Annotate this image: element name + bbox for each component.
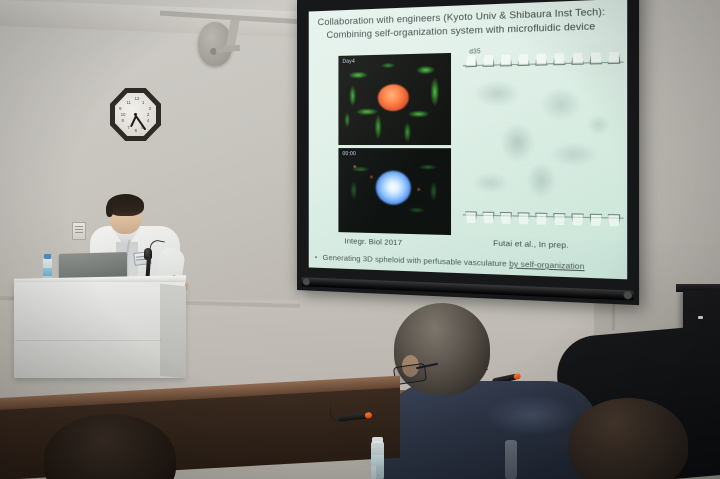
audience-shoulder-highlight (486, 395, 576, 435)
clock-num-6: 6 (135, 129, 137, 133)
clock-num-10: 10 (121, 113, 126, 117)
panel-c-tag: d35 (469, 49, 481, 56)
post (589, 214, 602, 226)
post (553, 53, 565, 65)
slide-title: Collaboration with engineers (Kyoto Univ… (318, 4, 625, 42)
slide-image-panel-c: d35 (463, 43, 624, 241)
projection-screen: Collaboration with engineers (Kyoto Univ… (297, 0, 639, 305)
audience-jacket-navy (376, 381, 600, 479)
clock-num-3: 3 (149, 107, 151, 111)
lectern-side-panel (160, 284, 186, 379)
slide-bullet: •Generating 3D spheloid with perfusable … (315, 253, 623, 273)
clock-center-pin (134, 113, 137, 116)
clock-num-9: 9 (119, 107, 121, 111)
post (483, 55, 495, 67)
post (535, 213, 547, 225)
caption-right: Futai et al., In prep. (493, 238, 569, 250)
caption-left: Integr. Biol 2017 (344, 236, 402, 247)
presenter-glasses (111, 210, 140, 217)
slide-image-panel-a: Day4 (338, 53, 451, 145)
post (500, 212, 512, 224)
lecture-hall-photo: 12 1 2 3 4 5 6 7 8 9 10 11 Collaboration… (0, 0, 720, 479)
panel-b-tag: 00:00 (342, 151, 356, 157)
post (483, 212, 495, 224)
clock-num-8: 8 (122, 119, 124, 123)
clock-numerals: 12 1 2 3 4 5 6 7 8 9 10 11 (115, 93, 156, 136)
post (465, 55, 477, 67)
audience-bottle-label (371, 455, 384, 466)
post (608, 52, 621, 64)
bullet-text-underlined: by self-organization (509, 259, 584, 271)
clock-num-7: 7 (127, 126, 129, 130)
bullet-marker: • (315, 253, 323, 262)
post (535, 54, 547, 66)
post (553, 213, 565, 225)
clock-num-1: 1 (142, 101, 144, 105)
clock-num-2: 2 (147, 113, 149, 117)
wall-clock: 12 1 2 3 4 5 6 7 8 9 10 11 (110, 88, 161, 141)
audience-water-bottle-2 (505, 440, 517, 479)
bullet-text-plain: Generating 3D spheloid with perfusable v… (323, 253, 510, 269)
post (500, 55, 512, 67)
projected-slide: Collaboration with engineers (Kyoto Univ… (309, 0, 627, 279)
post (571, 53, 584, 65)
wall-switch-plate-icon (72, 222, 86, 240)
clock-num-11: 11 (126, 101, 130, 105)
spheroid-blue (376, 170, 411, 204)
post (608, 214, 621, 226)
presenter-bottle-label (43, 268, 52, 276)
post (465, 211, 477, 223)
av-rack-led (698, 316, 703, 319)
clock-num-4: 4 (147, 119, 149, 123)
slide-image-panel-b: 00:00 (338, 148, 451, 235)
post (517, 212, 529, 224)
clock-num-12: 12 (135, 97, 140, 101)
presenter-bottle-cap (44, 254, 51, 259)
post (571, 213, 584, 225)
panel-a-tag: Day4 (342, 59, 355, 65)
post (517, 54, 529, 66)
post (589, 52, 602, 64)
lectern-seam (16, 340, 162, 341)
